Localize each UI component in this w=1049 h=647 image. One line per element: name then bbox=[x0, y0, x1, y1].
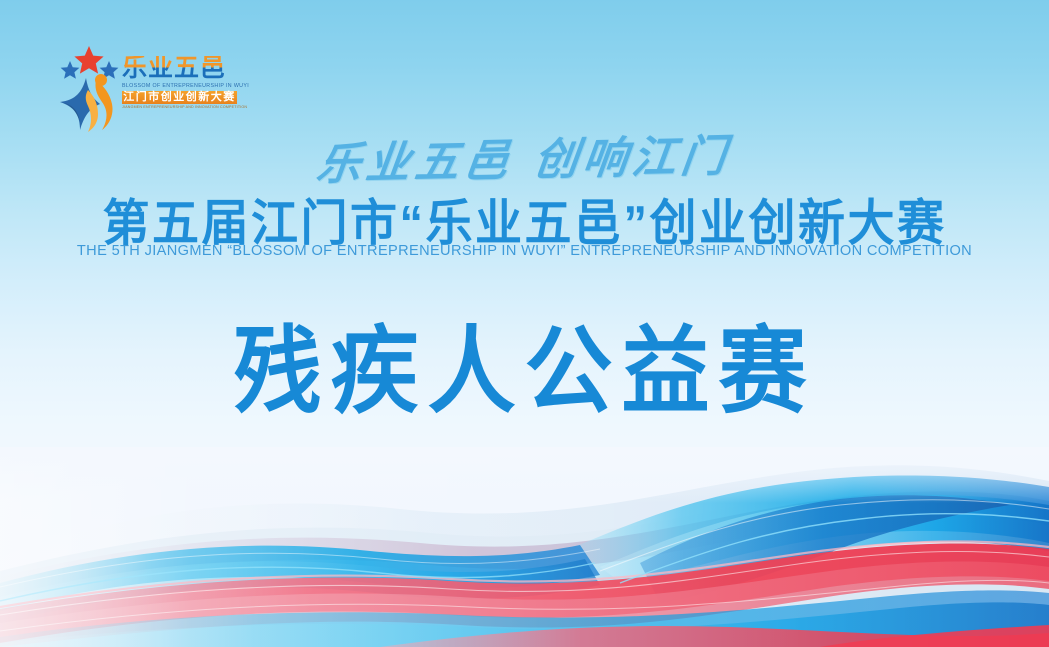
event-poster: 乐业五邑 BLOSSOM OF ENTREPRENEURSHIP IN WUYI… bbox=[0, 0, 1049, 647]
competition-logo: 乐业五邑 BLOSSOM OF ENTREPRENEURSHIP IN WUYI… bbox=[52, 44, 247, 132]
logo-star-figure-icon bbox=[52, 44, 130, 132]
ribbon-wave-artwork bbox=[0, 447, 1049, 647]
event-headline: 残疾人公益赛 bbox=[0, 300, 1049, 427]
subtitle-text: THE 5TH JIANGMEN “BLOSSOM OF ENTREPRENEU… bbox=[77, 243, 972, 259]
calligraphy-slogan: 乐业五邑 创响江门 bbox=[0, 124, 1049, 188]
competition-subtitle-en: THE 5TH JIANGMEN “BLOSSOM OF ENTREPRENEU… bbox=[0, 242, 1049, 260]
logo-banner-cn: 江门市创业创新大赛 bbox=[122, 91, 237, 104]
logo-name-en: BLOSSOM OF ENTREPRENEURSHIP IN WUYI bbox=[122, 83, 250, 89]
logo-name-cn: 乐业五邑 bbox=[122, 56, 247, 81]
logo-wordmark: 乐业五邑 BLOSSOM OF ENTREPRENEURSHIP IN WUYI… bbox=[122, 56, 247, 109]
headline-text: 残疾人公益赛 bbox=[233, 295, 815, 432]
logo-banner-en: JIANGMEN ENTREPRENEURSHIP AND INNOVATION… bbox=[122, 105, 237, 109]
